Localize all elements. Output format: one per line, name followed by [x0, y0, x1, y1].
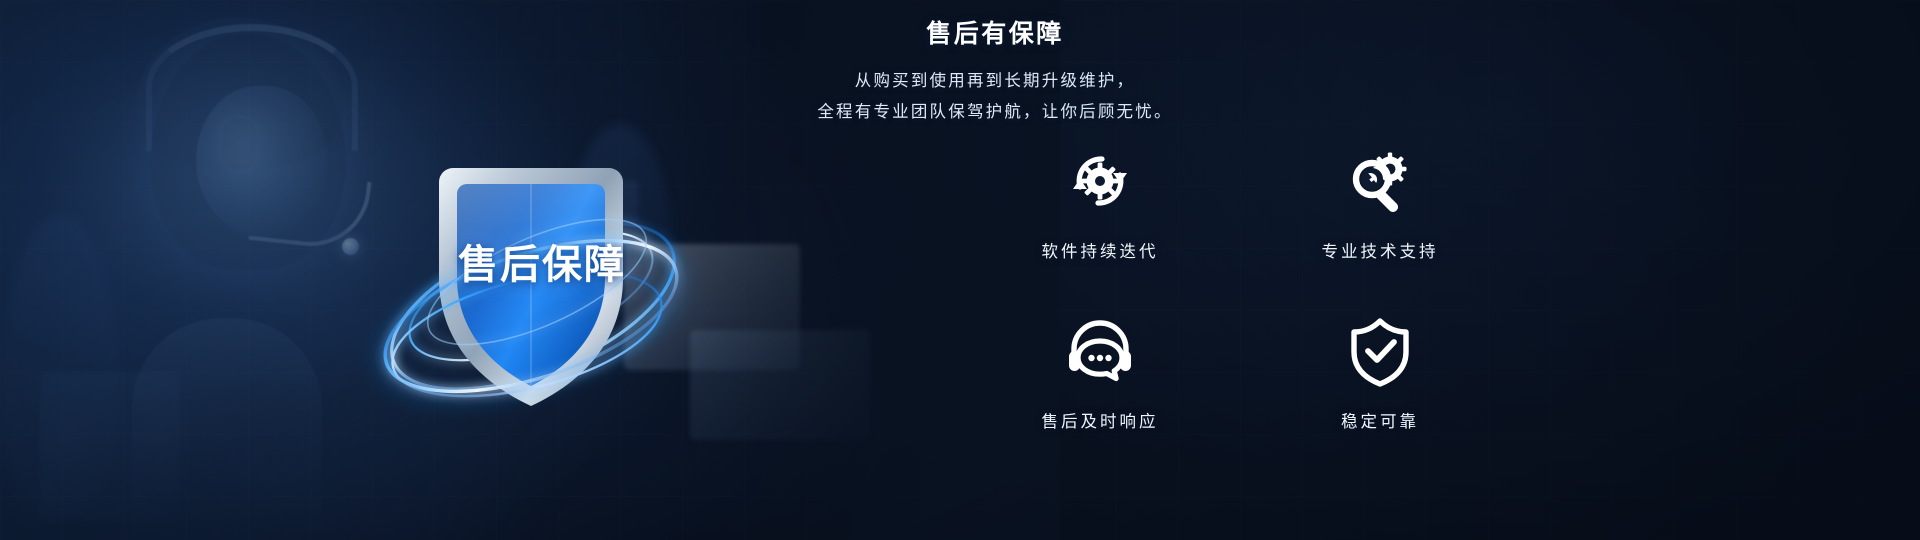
page-title: 售后有保障 [640, 14, 1350, 50]
feature-item-timely-response[interactable]: 售后及时响应 [960, 310, 1240, 460]
headset-chat-icon [1062, 310, 1138, 392]
headline-block: 售后有保障 从购买到使用再到长期升级维护， 全程有专业团队保驾护航，让你后顾无忧… [640, 14, 1350, 128]
feature-item-stable-reliable[interactable]: 稳定可靠 [1240, 310, 1520, 460]
feature-label: 稳定可靠 [1341, 408, 1419, 432]
after-sales-banner: 售后保障 售后有保障 从购买到使用再到长期升级维护， 全程有专业团队保驾护航，让… [0, 0, 1920, 540]
magnifier-wrench-gear-icon [1342, 140, 1418, 222]
shield-check-icon [1342, 310, 1418, 392]
shield-emblem: 售后保障 [355, 120, 705, 430]
feature-label: 售后及时响应 [1042, 408, 1159, 432]
feature-item-software-iteration[interactable]: 软件持续迭代 [960, 140, 1240, 290]
feature-label: 专业技术支持 [1322, 238, 1439, 262]
feature-item-technical-support[interactable]: 专业技术支持 [1240, 140, 1520, 290]
subtitle-line-1: 从购买到使用再到长期升级维护， [640, 66, 1350, 97]
feature-grid: 软件持续迭代 [960, 140, 1520, 460]
subtitle-line-2: 全程有专业团队保驾护航，让你后顾无忧。 [640, 97, 1350, 128]
gear-refresh-icon [1062, 140, 1138, 222]
feature-label: 软件持续迭代 [1042, 238, 1159, 262]
shield-label: 售后保障 [367, 232, 717, 290]
